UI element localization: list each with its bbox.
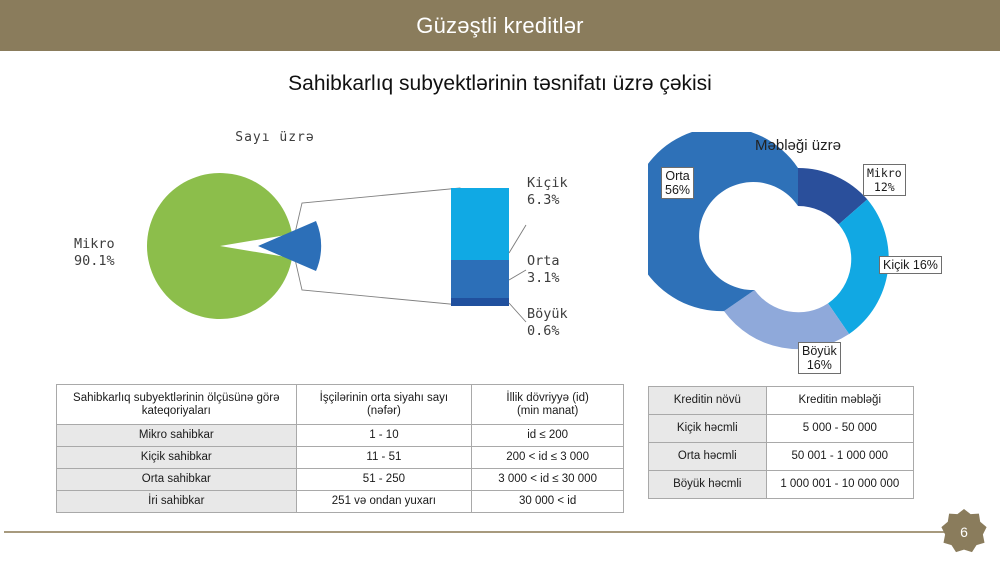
pie-label-orta: Orta 3.1% bbox=[527, 253, 560, 287]
donut-slice-boyuk bbox=[724, 290, 849, 349]
table-header-row: Kreditin növü Kreditin məbləği bbox=[649, 387, 914, 415]
chart-meblegi-uzre: Məbləği üzrə Orta 56% Mikro 12% Kiçik 16… bbox=[648, 132, 1000, 372]
cell-turnover: id ≤ 200 bbox=[472, 425, 624, 447]
leader-line-kicik bbox=[509, 225, 526, 253]
cell-category: Orta sahibkar bbox=[57, 469, 297, 491]
donut-slice-orta bbox=[648, 132, 798, 311]
pie-label-boyuk: Böyük 0.6% bbox=[527, 306, 568, 340]
cell-employees: 1 - 10 bbox=[296, 425, 472, 447]
chart-sayi-uzre: Sayı üzrə Mikro 90.1% Kiçik 6.3% Orta 3.… bbox=[60, 130, 620, 365]
footer-divider bbox=[4, 531, 958, 533]
table-row: İri sahibkar 251 və ondan yuxarı 30 000 … bbox=[57, 491, 624, 513]
cell-turnover: 200 < id ≤ 3 000 bbox=[472, 447, 624, 469]
leader-line-boyuk bbox=[509, 303, 526, 322]
table-enterprise-classification: Sahibkarlıq subyektlərinin ölçüsünə görə… bbox=[56, 384, 624, 513]
pie-label-mikro: Mikro 90.1% bbox=[74, 236, 115, 270]
cell-turnover: 30 000 < id bbox=[472, 491, 624, 513]
table-header-credit-amount: Kreditin məbləği bbox=[766, 387, 913, 415]
table-header-credit-type: Kreditin növü bbox=[649, 387, 767, 415]
header-title: Güzəştli kreditlər bbox=[416, 13, 583, 39]
cell-credit-type: Böyük həcmli bbox=[649, 471, 767, 499]
donut-label-kicik: Kiçik 16% bbox=[879, 256, 942, 274]
leader-line-orta bbox=[509, 270, 526, 280]
page-number: 6 bbox=[941, 509, 987, 555]
table-row: Kiçik sahibkar 11 - 51 200 < id ≤ 3 000 bbox=[57, 447, 624, 469]
header-bar: Güzəştli kreditlər bbox=[0, 0, 1000, 51]
table-row: Böyük həcmli 1 000 001 - 10 000 000 bbox=[649, 471, 914, 499]
table-credit-types: Kreditin növü Kreditin məbləği Kiçik həc… bbox=[648, 386, 914, 499]
chart-sayi-subtitle: Sayı üzrə bbox=[60, 130, 490, 145]
donut-svg bbox=[648, 132, 1000, 372]
cell-category: Mikro sahibkar bbox=[57, 425, 297, 447]
table-row: Orta sahibkar 51 - 250 3 000 < id ≤ 30 0… bbox=[57, 469, 624, 491]
table-row: Orta həcmli 50 001 - 1 000 000 bbox=[649, 443, 914, 471]
pie-label-kicik: Kiçik 6.3% bbox=[527, 175, 568, 209]
table-row: Mikro sahibkar 1 - 10 id ≤ 200 bbox=[57, 425, 624, 447]
cell-credit-type: Kiçik həcmli bbox=[649, 415, 767, 443]
cell-credit-amount: 5 000 - 50 000 bbox=[766, 415, 913, 443]
bar-segment-kicik bbox=[451, 188, 509, 260]
donut-label-mikro: Mikro 12% bbox=[863, 164, 906, 196]
table-header-category: Sahibkarlıq subyektlərinin ölçüsünə görə… bbox=[57, 385, 297, 425]
donut-label-boyuk: Böyük 16% bbox=[798, 342, 841, 374]
page-title: Sahibkarlıq subyektlərinin təsnifatı üzr… bbox=[0, 72, 1000, 96]
cell-credit-type: Orta həcmli bbox=[649, 443, 767, 471]
bar-segment-boyuk bbox=[451, 298, 509, 306]
donut-label-orta: Orta 56% bbox=[661, 167, 694, 199]
table-header-turnover: İllik dövriyyə (id) (min manat) bbox=[472, 385, 624, 425]
cell-employees: 51 - 250 bbox=[296, 469, 472, 491]
cell-category: İri sahibkar bbox=[57, 491, 297, 513]
cell-turnover: 3 000 < id ≤ 30 000 bbox=[472, 469, 624, 491]
cell-credit-amount: 1 000 001 - 10 000 000 bbox=[766, 471, 913, 499]
table-header-turnover-line1: İllik dövriyyə (id) bbox=[506, 392, 588, 404]
table-header-employees: İşçilərinin orta siyahı sayı (nəfər) bbox=[296, 385, 472, 425]
cell-credit-amount: 50 001 - 1 000 000 bbox=[766, 443, 913, 471]
cell-employees: 11 - 51 bbox=[296, 447, 472, 469]
cell-category: Kiçik sahibkar bbox=[57, 447, 297, 469]
table-row: Kiçik həcmli 5 000 - 50 000 bbox=[649, 415, 914, 443]
bar-segment-orta bbox=[451, 260, 509, 298]
cell-employees: 251 və ondan yuxarı bbox=[296, 491, 472, 513]
table-header-row: Sahibkarlıq subyektlərinin ölçüsünə görə… bbox=[57, 385, 624, 425]
table-header-turnover-line2: (min manat) bbox=[517, 405, 578, 417]
chart-meblegi-subtitle: Məbləği üzrə bbox=[678, 137, 918, 154]
